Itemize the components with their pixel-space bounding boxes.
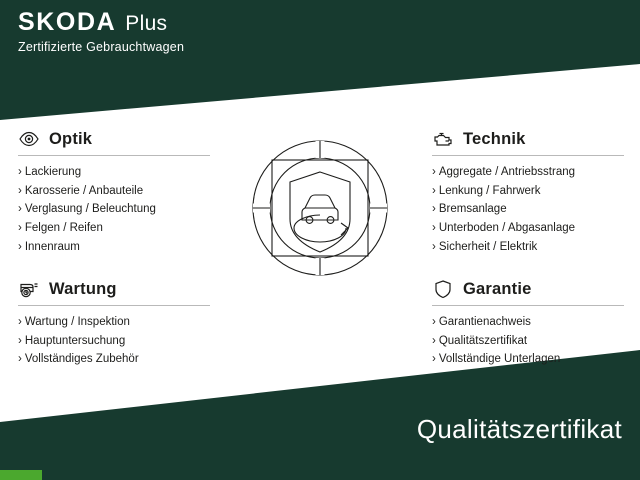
chevron-right-icon: › bbox=[18, 353, 22, 365]
chevron-right-icon: › bbox=[18, 166, 22, 178]
section-wartung-list: ›Wartung / Inspektion ›Hauptuntersuchung… bbox=[18, 313, 210, 369]
section-optik-title: Optik bbox=[49, 130, 92, 149]
section-technik-list: ›Aggregate / Antriebsstrang ›Lenkung / F… bbox=[432, 163, 624, 256]
service-clock-icon bbox=[18, 278, 40, 300]
chevron-right-icon: › bbox=[18, 222, 22, 234]
brand-tagline: Zertifizierte Gebrauchtwagen bbox=[18, 40, 184, 54]
section-garantie: Garantie ›Garantienachweis ›Qualitätszer… bbox=[432, 278, 624, 369]
list-item-label: Garantienachweis bbox=[439, 316, 531, 328]
engine-icon bbox=[432, 128, 454, 150]
list-item-label: Vollständiges Zubehör bbox=[25, 353, 139, 365]
left-column: Optik ›Lackierung ›Karosserie / Anbautei… bbox=[18, 128, 210, 391]
list-item: ›Innenraum bbox=[18, 238, 210, 257]
section-wartung-title: Wartung bbox=[49, 280, 117, 299]
list-item-label: Bremsanlage bbox=[439, 203, 507, 215]
list-item-label: Qualitätszertifikat bbox=[439, 335, 527, 347]
section-wartung: Wartung ›Wartung / Inspektion ›Hauptunte… bbox=[18, 278, 210, 369]
list-item: ›Karosserie / Anbauteile bbox=[18, 182, 210, 201]
chevron-right-icon: › bbox=[432, 353, 436, 365]
list-item-label: Unterboden / Abgasanlage bbox=[439, 222, 575, 234]
section-optik-header: Optik bbox=[18, 128, 210, 156]
chevron-right-icon: › bbox=[432, 185, 436, 197]
list-item-label: Vollständige Unterlagen bbox=[439, 353, 560, 365]
list-item-label: Lenkung / Fahrwerk bbox=[439, 185, 541, 197]
chevron-right-icon: › bbox=[18, 185, 22, 197]
section-optik-list: ›Lackierung ›Karosserie / Anbauteile ›Ve… bbox=[18, 163, 210, 256]
list-item-label: Innenraum bbox=[25, 241, 80, 253]
list-item: ›Sicherheit / Elektrik bbox=[432, 238, 624, 257]
document-title: Qualitätszertifikat bbox=[417, 414, 622, 445]
chevron-right-icon: › bbox=[18, 241, 22, 253]
list-item: ›Felgen / Reifen bbox=[18, 219, 210, 238]
section-garantie-list: ›Garantienachweis ›Qualitätszertifikat ›… bbox=[432, 313, 624, 369]
chevron-right-icon: › bbox=[432, 203, 436, 215]
section-optik: Optik ›Lackierung ›Karosserie / Anbautei… bbox=[18, 128, 210, 256]
section-technik-header: Technik bbox=[432, 128, 624, 156]
list-item: ›Vollständiges Zubehör bbox=[18, 350, 210, 369]
section-technik-title: Technik bbox=[463, 130, 526, 149]
section-technik: Technik ›Aggregate / Antriebsstrang ›Len… bbox=[432, 128, 624, 256]
brand-name: SKODA bbox=[18, 10, 116, 35]
footer-base-bar bbox=[0, 470, 640, 480]
eye-icon bbox=[18, 128, 40, 150]
list-item: ›Qualitätszertifikat bbox=[432, 332, 624, 351]
section-wartung-header: Wartung bbox=[18, 278, 210, 306]
brand-suffix: Plus bbox=[125, 13, 167, 34]
chevron-right-icon: › bbox=[18, 316, 22, 328]
list-item-label: Verglasung / Beleuchtung bbox=[25, 203, 156, 215]
chevron-right-icon: › bbox=[432, 222, 436, 234]
list-item-label: Karosserie / Anbauteile bbox=[25, 185, 143, 197]
section-garantie-header: Garantie bbox=[432, 278, 624, 306]
list-item: ›Unterboden / Abgasanlage bbox=[432, 219, 624, 238]
chevron-right-icon: › bbox=[18, 203, 22, 215]
right-column: Technik ›Aggregate / Antriebsstrang ›Len… bbox=[432, 128, 624, 391]
list-item: ›Aggregate / Antriebsstrang bbox=[432, 163, 624, 182]
chevron-right-icon: › bbox=[432, 166, 436, 178]
list-item-label: Lackierung bbox=[25, 166, 81, 178]
list-item: ›Garantienachweis bbox=[432, 313, 624, 332]
list-item: ›Lenkung / Fahrwerk bbox=[432, 182, 624, 201]
car-shield-circle-graphic bbox=[236, 124, 404, 292]
list-item-label: Felgen / Reifen bbox=[25, 222, 103, 234]
brand-header: SKODA Plus Zertifizierte Gebrauchtwagen bbox=[18, 10, 184, 54]
chevron-right-icon: › bbox=[432, 335, 436, 347]
chevron-right-icon: › bbox=[432, 241, 436, 253]
chevron-right-icon: › bbox=[432, 316, 436, 328]
brand-lockup: SKODA Plus bbox=[18, 10, 184, 35]
accent-strip bbox=[0, 470, 42, 480]
list-item: ›Hauptuntersuchung bbox=[18, 332, 210, 351]
shield-icon bbox=[432, 278, 454, 300]
list-item: ›Vollständige Unterlagen bbox=[432, 350, 624, 369]
list-item-label: Wartung / Inspektion bbox=[25, 316, 130, 328]
section-garantie-title: Garantie bbox=[463, 280, 532, 299]
list-item: ›Bremsanlage bbox=[432, 200, 624, 219]
list-item: ›Verglasung / Beleuchtung bbox=[18, 200, 210, 219]
list-item-label: Hauptuntersuchung bbox=[25, 335, 125, 347]
chevron-right-icon: › bbox=[18, 335, 22, 347]
certificate-page: SKODA Plus Zertifizierte Gebrauchtwagen bbox=[0, 0, 640, 480]
list-item-label: Aggregate / Antriebsstrang bbox=[439, 166, 575, 178]
list-item-label: Sicherheit / Elektrik bbox=[439, 241, 537, 253]
list-item: ›Wartung / Inspektion bbox=[18, 313, 210, 332]
list-item: ›Lackierung bbox=[18, 163, 210, 182]
